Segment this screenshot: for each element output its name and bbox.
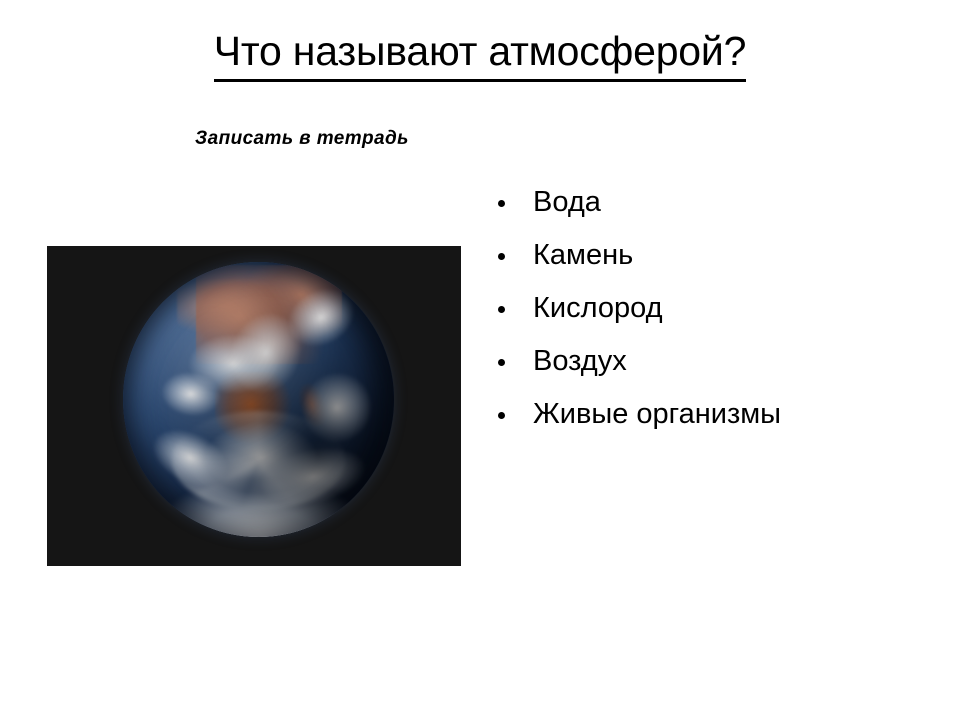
globe-container <box>123 262 394 537</box>
earth-image <box>47 246 461 566</box>
bullet-dot-icon <box>498 359 505 366</box>
bullet-dot-icon <box>498 200 505 207</box>
list-item-label: Вода <box>533 186 601 218</box>
page-title: Что называют атмосферой? <box>0 26 960 82</box>
earth-globe <box>123 262 394 537</box>
bullet-list: Вода Камень Кислород Воздух Живые органи… <box>492 176 912 441</box>
page-title-text: Что называют атмосферой? <box>214 26 746 82</box>
limb-darkening <box>123 262 394 537</box>
slide: Что называют атмосферой? Записать в тетр… <box>0 0 960 720</box>
list-item: Воздух <box>492 335 912 388</box>
list-item-label: Камень <box>533 239 633 271</box>
bullet-dot-icon <box>498 253 505 260</box>
list-item-label: Живые организмы <box>533 398 781 430</box>
list-item: Камень <box>492 229 912 282</box>
list-item: Живые организмы <box>492 388 912 441</box>
list-item: Кислород <box>492 282 912 335</box>
list-item: Вода <box>492 176 912 229</box>
list-item-label: Воздух <box>533 345 627 377</box>
list-item-label: Кислород <box>533 292 663 324</box>
bullet-dot-icon <box>498 412 505 419</box>
note-text: Записать в тетрадь <box>195 128 409 150</box>
bullet-dot-icon <box>498 306 505 313</box>
